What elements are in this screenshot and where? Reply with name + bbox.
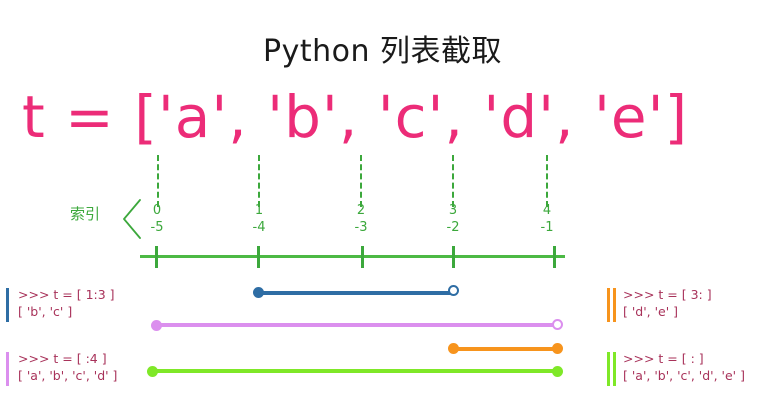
list-literal-code: t = ['a', 'b', 'c', 'd', 'e'] [22, 85, 688, 149]
annotation-bar [6, 288, 9, 322]
negative-index-1: -4 [239, 219, 279, 236]
dropper-line-4 [546, 155, 548, 207]
axis-tick-0 [155, 246, 158, 268]
annotation-command-slice-3-end: >>> t = [ 3: ] [623, 286, 712, 303]
annotation-slice-1-3: >>> t = [ 1:3 ] [ 'b', 'c' ] [6, 286, 115, 320]
slide-canvas: Python 列表截取 t = ['a', 'b', 'c', 'd', 'e'… [0, 0, 765, 420]
segment-slice-3-end [452, 347, 557, 351]
segment-slice-start-4 [156, 323, 558, 327]
positive-index-2: 2 [341, 202, 381, 219]
segment-slice-1-3 [258, 291, 454, 295]
annotation-bars-slice-start-4 [6, 352, 9, 386]
annotation-bar [613, 288, 616, 322]
index-column-1: 1 -4 [239, 202, 279, 236]
annotation-bar [6, 352, 9, 386]
negative-index-2: -3 [341, 219, 381, 236]
dropper-line-1 [258, 155, 260, 207]
page-title: Python 列表截取 [0, 26, 765, 70]
annotation-result-slice-start-4: [ 'a', 'b', 'c', 'd' ] [18, 367, 117, 384]
annotation-bar [613, 352, 616, 386]
positive-index-4: 4 [527, 202, 567, 219]
negative-index-0: -5 [137, 219, 177, 236]
annotation-slice-start-4: >>> t = [ :4 ] [ 'a', 'b', 'c', 'd' ] [6, 350, 117, 384]
annotation-bar [607, 288, 610, 322]
index-label: 索引 [70, 203, 100, 224]
annotation-command-slice-1-3: >>> t = [ 1:3 ] [18, 286, 115, 303]
segment-start-dot-slice-all [147, 366, 158, 377]
negative-index-4: -1 [527, 219, 567, 236]
annotation-bars-slice-1-3 [6, 288, 9, 322]
axis-tick-4 [553, 246, 556, 268]
dropper-line-0 [157, 155, 159, 207]
annotation-result-slice-1-3: [ 'b', 'c' ] [18, 303, 115, 320]
index-column-3: 3 -2 [433, 202, 473, 236]
annotation-result-slice-3-end: [ 'd', 'e' ] [623, 303, 712, 320]
annotation-bars-slice-3-end [607, 288, 616, 322]
segment-end-dot-slice-1-3 [448, 285, 459, 296]
positive-index-0: 0 [137, 202, 177, 219]
axis-tick-3 [452, 246, 455, 268]
annotation-slice-3-end: >>> t = [ 3: ] [ 'd', 'e' ] [607, 286, 712, 320]
annotation-result-slice-all: [ 'a', 'b', 'c', 'd', 'e' ] [623, 367, 745, 384]
annotation-command-slice-all: >>> t = [ : ] [623, 350, 745, 367]
positive-index-1: 1 [239, 202, 279, 219]
segment-end-dot-slice-3-end [552, 343, 563, 354]
segment-end-dot-slice-all [552, 366, 563, 377]
segment-start-dot-slice-3-end [448, 343, 459, 354]
segment-start-dot-slice-1-3 [253, 287, 264, 298]
annotation-bar [607, 352, 610, 386]
axis-tick-1 [257, 246, 260, 268]
index-column-4: 4 -1 [527, 202, 567, 236]
negative-index-3: -2 [433, 219, 473, 236]
segment-start-dot-slice-start-4 [151, 320, 162, 331]
annotation-bars-slice-all [607, 352, 616, 386]
annotation-slice-all: >>> t = [ : ] [ 'a', 'b', 'c', 'd', 'e' … [607, 350, 745, 384]
axis-tick-2 [361, 246, 364, 268]
index-column-2: 2 -3 [341, 202, 381, 236]
dropper-line-3 [452, 155, 454, 207]
positive-index-3: 3 [433, 202, 473, 219]
index-column-0: 0 -5 [137, 202, 177, 236]
dropper-line-2 [360, 155, 362, 207]
index-axis-line [140, 255, 565, 258]
segment-slice-all [152, 369, 557, 373]
annotation-command-slice-start-4: >>> t = [ :4 ] [18, 350, 117, 367]
segment-end-dot-slice-start-4 [552, 319, 563, 330]
